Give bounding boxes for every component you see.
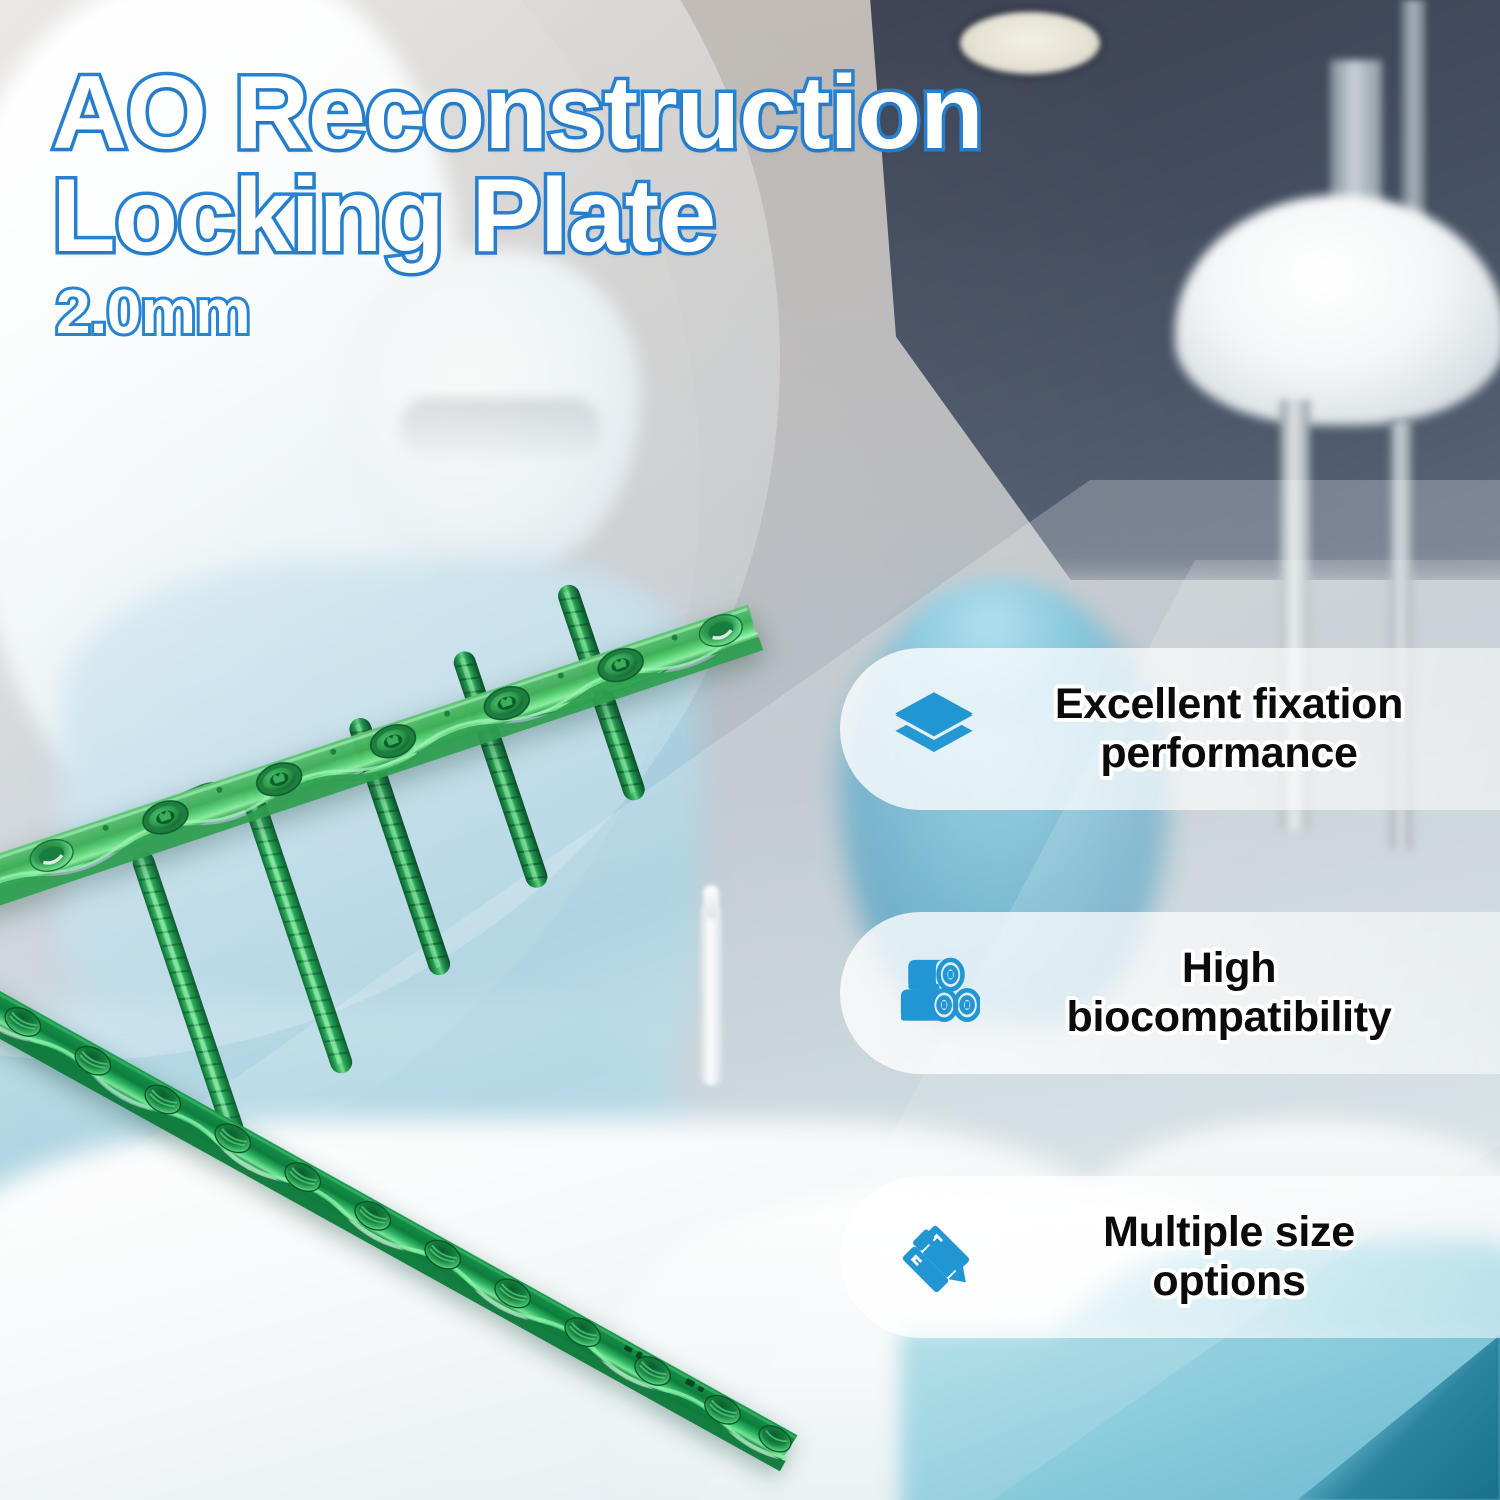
feature-label: Excellent fixation performance: [1006, 680, 1474, 778]
pen-ruler-icon: [888, 1211, 980, 1303]
page-title: AO Reconstruction Locking Plate: [52, 62, 983, 268]
feature-item-biocompatibility[interactable]: High biocompatibility: [840, 912, 1500, 1074]
product-size-subtitle: 2.0mm: [56, 282, 983, 344]
feature-label: Multiple size options: [1006, 1208, 1474, 1306]
material-rolls-icon: [888, 947, 980, 1039]
feature-item-fixation[interactable]: Excellent fixation performance: [840, 648, 1500, 810]
product-banner: AO Reconstruction Locking Plate 2.0mm Ex…: [0, 0, 1500, 1500]
feature-list: Excellent fixation performance: [840, 648, 1500, 1338]
title-block: AO Reconstruction Locking Plate 2.0mm: [52, 62, 983, 344]
feature-item-sizes[interactable]: Multiple size options: [840, 1176, 1500, 1338]
feature-label: High biocompatibility: [1006, 944, 1474, 1042]
layers-icon: [888, 683, 980, 775]
